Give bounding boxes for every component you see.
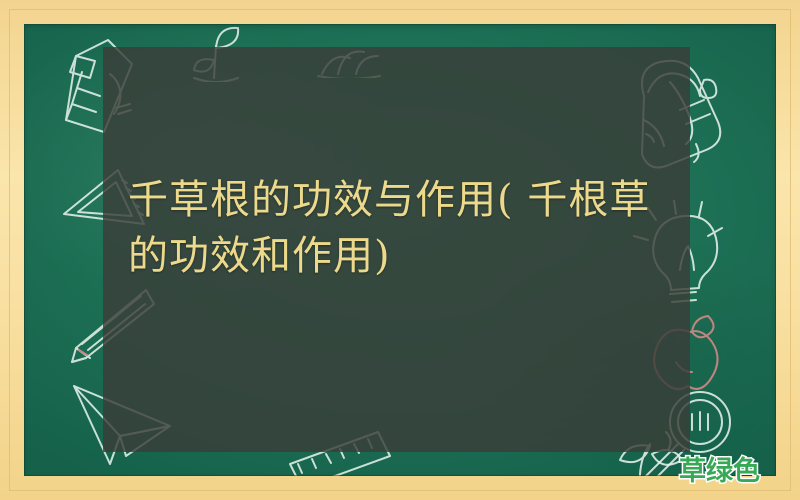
title-block: 千草根的功效与作用( 千根草的功效和作用): [128, 172, 688, 284]
page-title: 千草根的功效与作用( 千根草的功效和作用): [128, 172, 688, 284]
screenshot-canvas: 千草根的功效与作用( 千根草的功效和作用) 草绿色: [0, 0, 800, 500]
watermark-label: 草绿色: [679, 449, 760, 488]
